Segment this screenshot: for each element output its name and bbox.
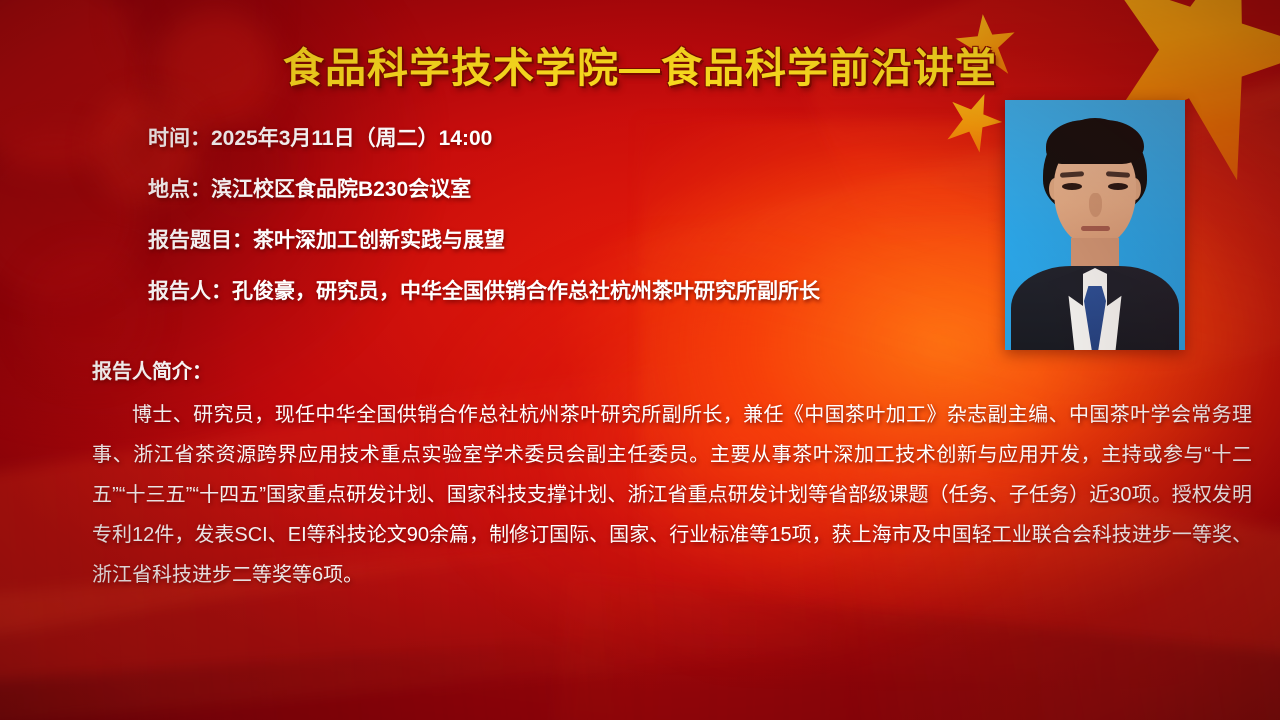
portrait-eye-left	[1062, 183, 1082, 190]
speaker-bio-block: 报告人简介： 博士、研究员，现任中华全国供销合作总社杭州茶叶研究所副所长，兼任《…	[92, 355, 1252, 595]
event-time-line: 时间：2025年3月11日（周二）14:00	[148, 128, 948, 149]
page-title: 食品科学技术学院—食品科学前沿讲堂	[0, 34, 1280, 94]
poster-root: 食品科学技术学院—食品科学前沿讲堂 时间：2025年3月11日（周二）14:00…	[0, 0, 1280, 720]
speaker-portrait-photo	[1005, 100, 1185, 350]
event-info-block: 时间：2025年3月11日（周二）14:00 地点：滨江校区食品院B230会议室…	[148, 128, 948, 332]
portrait-eye-right	[1108, 183, 1128, 190]
event-speaker-line: 报告人：孔俊豪，研究员，中华全国供销合作总社杭州茶叶研究所副所长	[148, 281, 948, 302]
portrait-fringe	[1046, 120, 1144, 164]
portrait-nose	[1089, 193, 1102, 217]
event-location-line: 地点：滨江校区食品院B230会议室	[148, 179, 948, 200]
bio-heading: 报告人简介：	[92, 355, 1252, 384]
event-topic-line: 报告题目：茶叶深加工创新实践与展望	[148, 230, 948, 251]
portrait-mouth	[1081, 226, 1110, 231]
bio-body-text: 博士、研究员，现任中华全国供销合作总社杭州茶叶研究所副所长，兼任《中国茶叶加工》…	[92, 395, 1252, 595]
